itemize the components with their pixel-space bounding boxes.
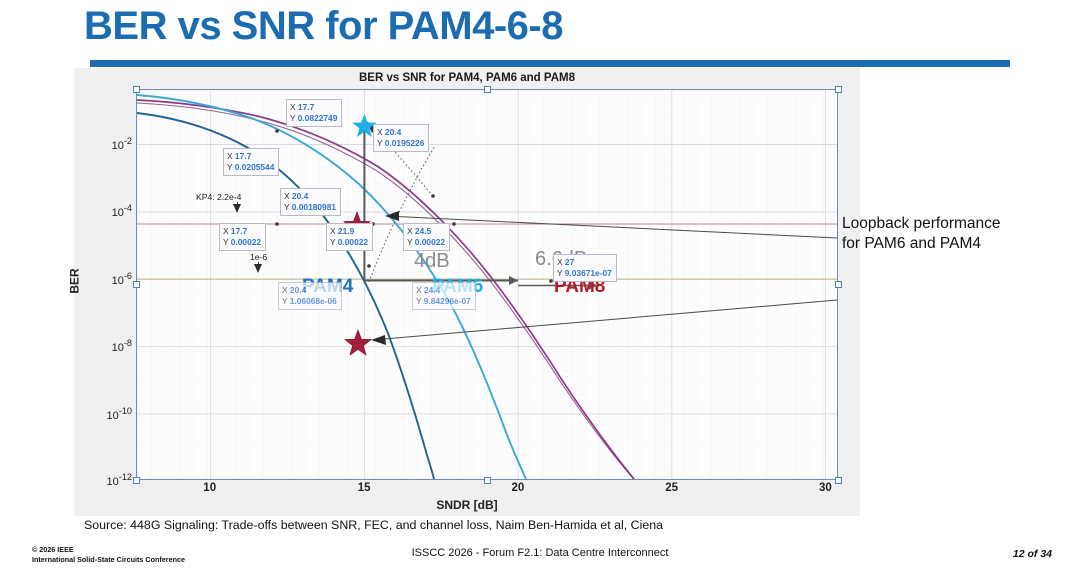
y-tick-label: 10-12 [107,472,132,488]
y-tick-label: 10-6 [112,271,132,287]
x-tick-label: 20 [511,482,524,494]
chart-figure: BER vs SNR for PAM4, PAM6 and PAM8 10-2 … [74,68,860,516]
kp4-annotation-stem [237,202,238,208]
datatip-x-value: 24.5 [415,226,431,236]
loopback-callout-line1: Loopback performance [842,214,1080,234]
datatip-x-value: 17.7 [298,102,314,112]
y-axis-ticks: 10-2 10-4 10-6 10-8 10-10 10-12 [74,89,132,480]
x-tick-label: 30 [819,482,832,494]
datatip-x-value: 27 [565,257,574,267]
datatip-y-value: 0.0195226 [385,138,425,148]
datatip-y-value: 0.00022 [338,237,368,247]
1e6-annotation-label: 1e-6 [250,252,267,262]
datatip-pam8-17p7[interactable]: X 17.7 Y 0.0822749 [286,99,342,127]
datatip-pam8-20p4[interactable]: X 20.4 Y 0.0195226 [373,124,429,152]
datatip-pam4-20p4[interactable]: X 20.4 Y 1.06068e-06 [278,282,342,310]
datatip-pam8-24p5[interactable]: X 24.5 Y 0.00022 [403,223,450,251]
datatip-pam6-20p4[interactable]: X 20.4 Y 0.00180981 [280,188,341,216]
datatip-pam6-17p7[interactable]: X 17.7 Y 0.0205544 [223,148,279,176]
datatip-y-value: 9.84296e-07 [424,296,471,306]
footer-page-number: 12 of 34 [1013,548,1052,560]
y-tick-label: 10-4 [112,204,132,220]
x-tick-label: 15 [358,482,371,494]
selection-handle-bottom-right[interactable] [835,477,842,484]
selection-handle-top-center[interactable] [484,86,491,93]
datatip-x-value: 20.4 [292,191,308,201]
y-tick-label: 10-2 [112,136,132,152]
selection-handle-bottom-left[interactable] [133,477,140,484]
y-axis-label: BER [68,268,82,293]
title-underline-rule [90,60,1010,67]
selection-handle-mid-left[interactable] [133,281,140,288]
datatip-x-value: 20.4 [290,285,306,295]
1e6-annotation-stem [258,262,259,268]
plot-area: PAM4 PAM6 PAM8 4dB 6.6dB KP4: 2.2e-4 1e-… [136,89,838,480]
datatip-y-value: 0.00022 [415,237,445,247]
datatip-pam4-17p7[interactable]: X 17.7 Y 0.00022 [219,223,266,251]
selection-handle-bottom-center[interactable] [484,477,491,484]
footer-conference: ISSCC 2026 - Forum F2.1: Data Centre Int… [0,547,1080,559]
datatip-y-value: 1.06068e-06 [290,296,337,306]
datatip-x-value: 20.4 [385,127,401,137]
datatip-y-value: 9.03671e-07 [565,268,612,278]
loopback-callout-line2: for PAM6 and PAM4 [842,234,1080,254]
selection-handle-top-left[interactable] [133,86,140,93]
page-title: BER vs SNR for PAM4-6-8 [84,4,563,49]
datatip-x-value: 24.4 [424,285,440,295]
loopback-callout: Loopback performance for PAM6 and PAM4 [842,214,1080,254]
datatip-pam8-27[interactable]: X 27 Y 9.03671e-07 [553,254,617,282]
datatip-x-value: 17.7 [235,151,251,161]
datatip-pam6-21p9[interactable]: X 21.9 Y 0.00022 [326,223,373,251]
chart-title: BER vs SNR for PAM4, PAM6 and PAM8 [74,72,860,84]
y-tick-label: 10-8 [112,338,132,354]
source-note: Source: 448G Signaling: Trade-offs betwe… [84,518,663,532]
x-tick-label: 25 [665,482,678,494]
datatip-y-value: 0.00022 [231,237,261,247]
kp4-annotation-label: KP4: 2.2e-4 [196,192,241,202]
datatip-y-value: 0.00180981 [292,202,336,212]
x-tick-label: 10 [203,482,216,494]
gap-label-4db: 4dB [414,250,450,273]
datatip-x-value: 21.9 [338,226,354,236]
selection-handle-mid-right[interactable] [835,281,842,288]
datatip-x-value: 17.7 [231,226,247,236]
x-axis-label: SNDR [dB] [74,498,860,512]
datatip-pam6-24p4[interactable]: X 24.4 Y 9.84296e-07 [412,282,476,310]
datatip-y-value: 0.0822749 [298,113,338,123]
selection-handle-top-right[interactable] [835,86,842,93]
y-tick-label: 10-10 [107,406,132,422]
datatip-y-value: 0.0205544 [235,162,275,172]
